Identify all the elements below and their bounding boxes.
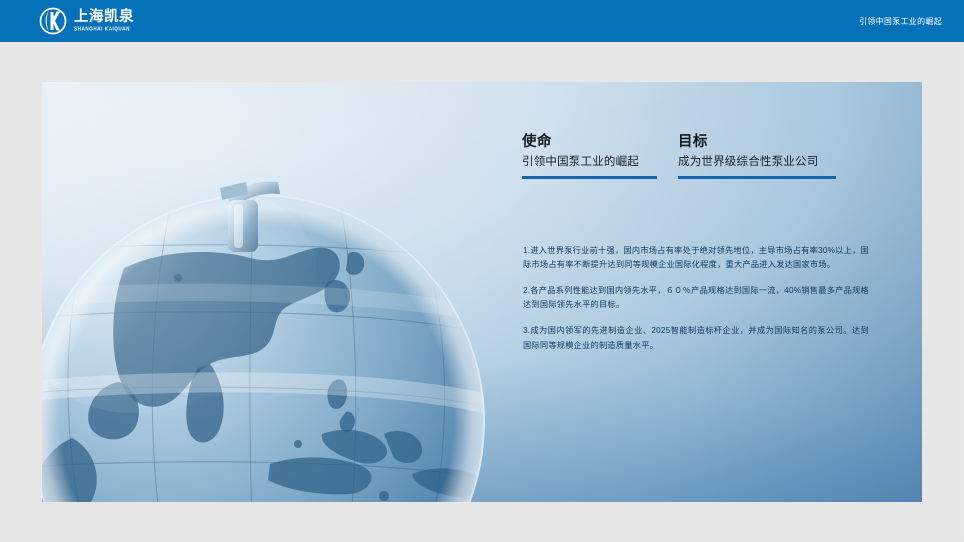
mission-title: 使命: [522, 134, 678, 151]
body-paragraph-3: 3.成为国内领军的先进制造企业、2025智能制造标杆企业，并成为国际知名的泵公司…: [523, 324, 869, 352]
brand-wordmark: 上海凯泉 SHANGHAI KAIQUAN: [74, 10, 134, 31]
globe-artwork: [42, 82, 502, 502]
brand-logo[interactable]: 上海凯泉 SHANGHAI KAIQUAN: [38, 6, 134, 36]
app-header: 上海凯泉 SHANGHAI KAIQUAN 引领中国泵工业的崛起: [0, 0, 964, 42]
headings-row: 使命 引领中国泵工业的崛起 目标 成为世界级综合性泵业公司: [522, 134, 882, 179]
kaiquan-circle-k-logo-icon: [38, 6, 68, 36]
mission-underline: [522, 176, 657, 179]
goal-underline: [678, 176, 836, 179]
header-tagline: 引领中国泵工业的崛起: [859, 0, 942, 42]
goal-subtitle: 成为世界级综合性泵业公司: [678, 155, 834, 169]
body-paragraph-block: 1.进入世界泵行业前十强，国内市场占有率处于绝对领先地位，主导市场占有率30%以…: [523, 244, 869, 353]
glass-globe-icon: [42, 82, 502, 502]
brand-name-cn: 上海凯泉: [74, 10, 134, 25]
mission-subtitle: 引领中国泵工业的崛起: [522, 155, 678, 169]
slide-canvas: 使命 引领中国泵工业的崛起 目标 成为世界级综合性泵业公司 1.进入世界泵行业前…: [42, 82, 922, 502]
heading-block-goal: 目标 成为世界级综合性泵业公司: [678, 134, 834, 179]
heading-block-mission: 使命 引领中国泵工业的崛起: [522, 134, 678, 179]
goal-title: 目标: [678, 134, 834, 151]
content-panel: 使命 引领中国泵工业的崛起 目标 成为世界级综合性泵业公司 1.进入世界泵行业前…: [522, 82, 922, 502]
body-paragraph-1: 1.进入世界泵行业前十强，国内市场占有率处于绝对领先地位，主导市场占有率30%以…: [523, 244, 869, 272]
brand-name-en: SHANGHAI KAIQUAN: [74, 27, 134, 32]
body-paragraph-2: 2.各产品系列性能达到国内领先水平，６０％产品规格达到国际一流，40%销售最多产…: [523, 284, 869, 312]
